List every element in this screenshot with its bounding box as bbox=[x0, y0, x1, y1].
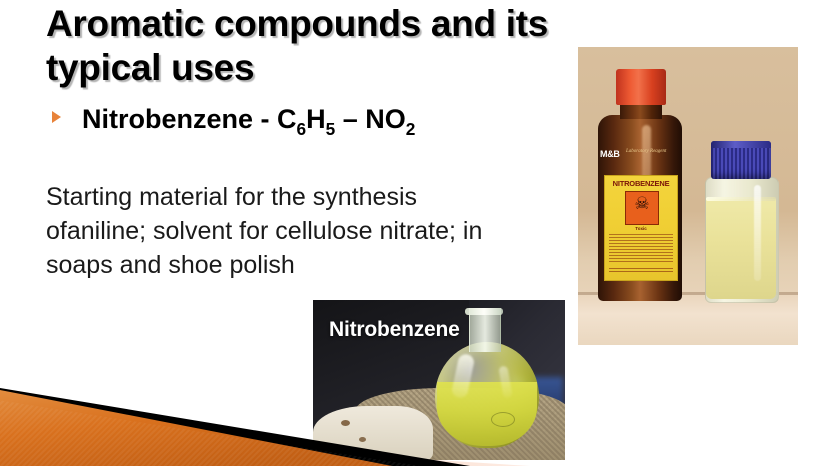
nitrobenzene-reagent-bottles-photo: M&B Laboratory Reagent 500 ml NITROBENZE… bbox=[578, 47, 798, 345]
clear-bottle-liquid bbox=[706, 199, 776, 299]
flask-photo-caption: Nitrobenzene bbox=[329, 318, 460, 342]
body-paragraph: Starting material for the synthesis ofan… bbox=[46, 180, 486, 282]
clear-bottle-highlight bbox=[754, 185, 761, 281]
bullet-sub-2: 2 bbox=[406, 119, 416, 139]
hazard-word-toxic: Toxic bbox=[605, 226, 677, 231]
skull-and-crossbones-icon: ☠ bbox=[626, 195, 658, 212]
bullet-item: Nitrobenzene - C6H5 – NO2 bbox=[52, 100, 522, 141]
page-title: Aromatic compounds and its typical uses bbox=[46, 2, 606, 90]
laboratory-reagent-text: Laboratory Reagent bbox=[626, 149, 670, 155]
liquid-meniscus bbox=[706, 197, 776, 201]
slide: Aromatic compounds and its typical uses … bbox=[0, 0, 828, 466]
bullet-sub-5: 5 bbox=[326, 119, 336, 139]
brown-reagent-bottle: M&B Laboratory Reagent 500 ml NITROBENZE… bbox=[596, 69, 684, 301]
bullet-dash-no: – NO bbox=[335, 104, 406, 134]
brand-text-mb: M&B bbox=[600, 149, 620, 159]
label-chemical-name: NITROBENZENE bbox=[605, 179, 677, 188]
clear-sample-bottle bbox=[702, 141, 780, 301]
nitrobenzene-label: NITROBENZENE ☠ Toxic bbox=[604, 175, 678, 281]
label-footer-print bbox=[609, 268, 673, 274]
hazard-diamond: ☠ bbox=[625, 191, 659, 225]
red-bottle-cap bbox=[616, 69, 666, 105]
label-fine-print bbox=[609, 234, 673, 264]
bottom-decorative-banner bbox=[0, 366, 828, 466]
blue-cap-top bbox=[711, 141, 771, 148]
bullet-mid: H bbox=[306, 104, 326, 134]
triangle-bullet-icon bbox=[52, 111, 61, 123]
bullet-item-label: Nitrobenzene - C6H5 – NO2 bbox=[82, 100, 522, 141]
flask-rim bbox=[465, 308, 503, 315]
bullet-sub-6: 6 bbox=[297, 119, 307, 139]
bullet-prefix: Nitrobenzene - C bbox=[82, 104, 297, 134]
